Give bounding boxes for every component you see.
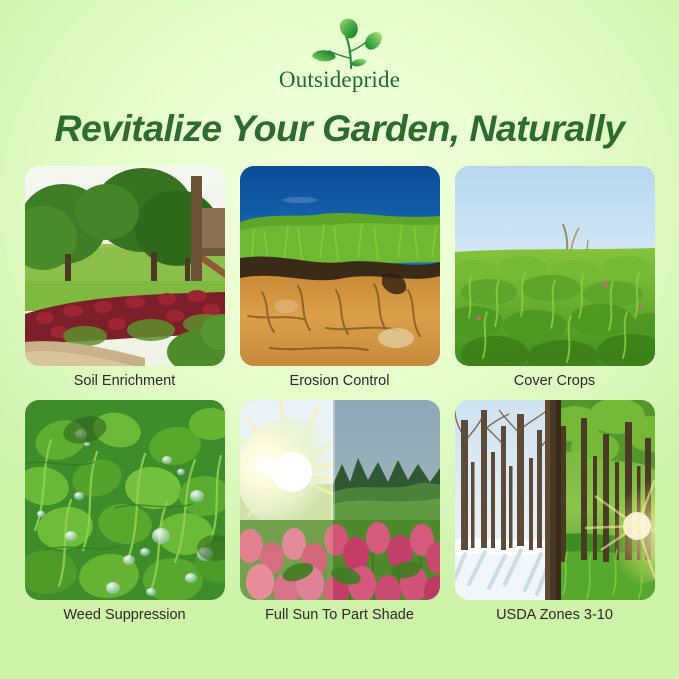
feature-grid: Soil Enrichment <box>25 166 655 625</box>
feature-image-erosion-control <box>240 166 440 366</box>
feature-image-weed-suppression <box>25 400 225 600</box>
page-title: Revitalize Your Garden, Naturally <box>55 107 625 150</box>
feature-caption: Soil Enrichment <box>74 373 176 390</box>
leaf-sprig-icon <box>294 18 386 70</box>
brand-logo: Outsidepride <box>279 18 400 93</box>
feature-card-usda-zones: USDA Zones 3-10 <box>455 400 655 624</box>
feature-card-erosion-control: Erosion Control <box>240 166 440 390</box>
feature-image-usda-zones <box>455 400 655 600</box>
feature-card-cover-crops: Cover Crops <box>455 166 655 390</box>
feature-image-cover-crops <box>455 166 655 366</box>
feature-caption: Erosion Control <box>290 373 390 390</box>
feature-caption: Cover Crops <box>514 373 595 390</box>
feature-card-weed-suppression: Weed Suppression <box>25 400 225 624</box>
feature-card-full-sun-to-part-shade: Full Sun To Part Shade <box>240 400 440 624</box>
feature-caption: Weed Suppression <box>63 607 185 624</box>
feature-caption: USDA Zones 3-10 <box>496 607 613 624</box>
brand-name: Outsidepride <box>279 67 400 93</box>
feature-image-soil-enrichment <box>25 166 225 366</box>
feature-caption: Full Sun To Part Shade <box>265 607 414 624</box>
promo-infographic: Outsidepride Revitalize Your Garden, Nat… <box>0 0 679 679</box>
feature-image-full-sun-to-part-shade <box>240 400 440 600</box>
feature-card-soil-enrichment: Soil Enrichment <box>25 166 225 390</box>
